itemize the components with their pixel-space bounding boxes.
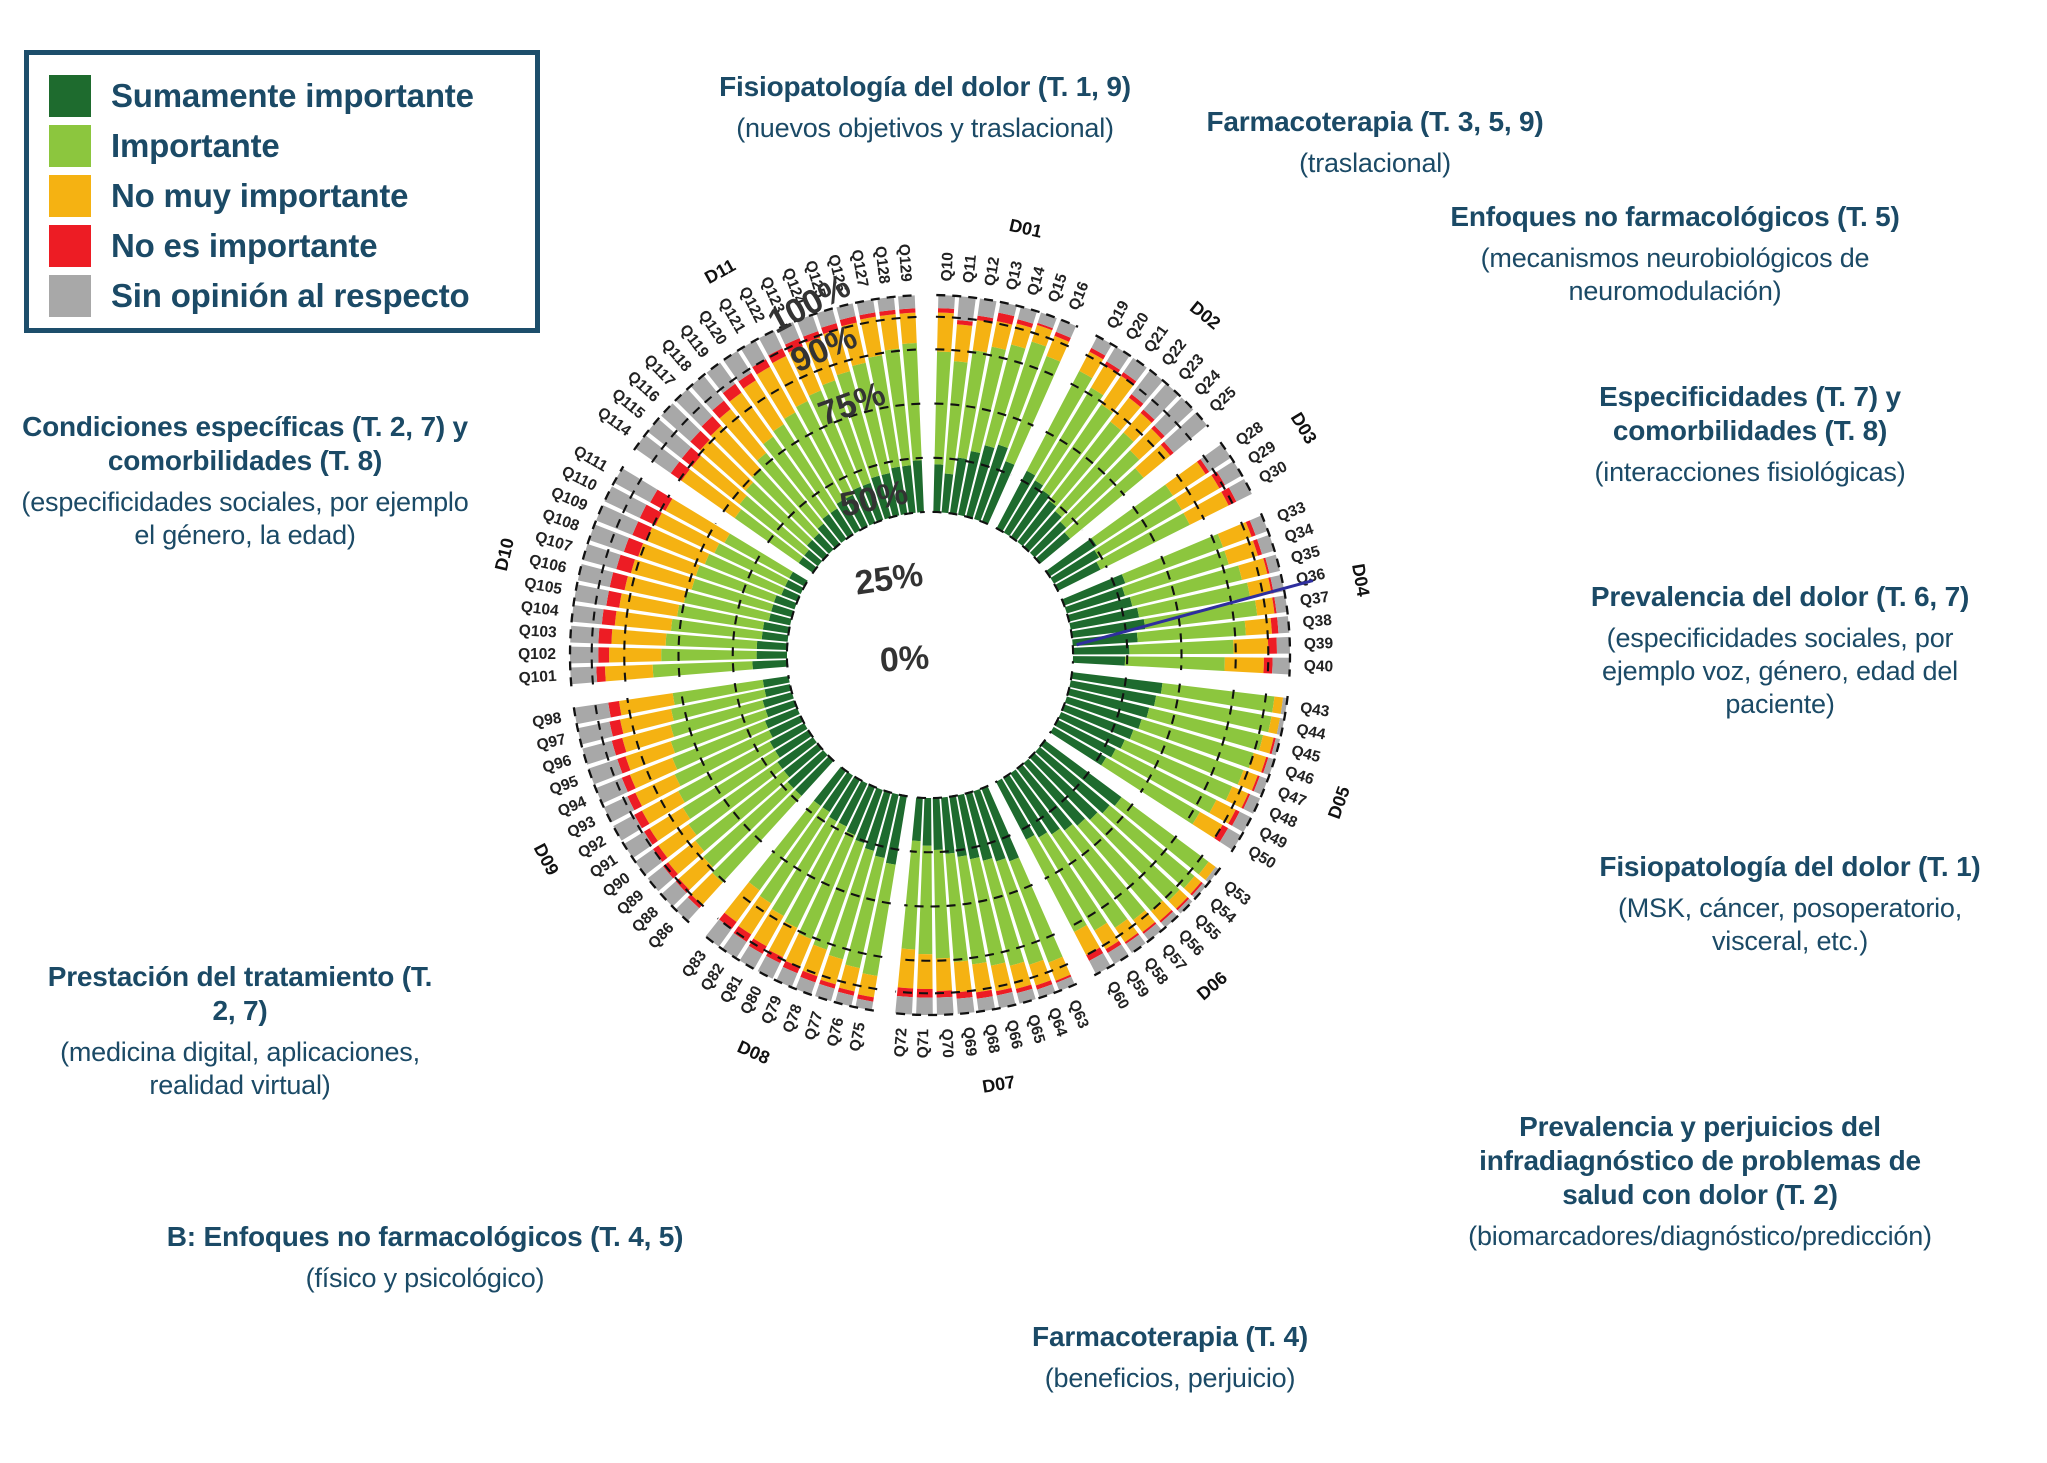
bar-segment xyxy=(954,324,972,362)
bar-segment xyxy=(606,591,621,608)
bar-segment xyxy=(752,660,787,669)
q-label: Q129 xyxy=(895,243,914,282)
q-label: Q68 xyxy=(981,1023,1002,1055)
bar-segment xyxy=(574,584,609,605)
bar-segment xyxy=(923,798,932,846)
bar-segment xyxy=(895,996,913,1015)
annotation-header: Fisiopatología del dolor (T. 1, 9) xyxy=(690,70,1160,104)
bar-segment xyxy=(902,841,921,950)
annotation-header: Fisiopatología del dolor (T. 1) xyxy=(1580,850,2000,884)
annotation-sub: (biomarcadores/diagnóstico/predicción) xyxy=(1440,1220,1960,1253)
q-label: Q128 xyxy=(871,245,893,285)
annotation-header: Especificidades (T. 7) y comorbilidades … xyxy=(1540,380,1960,448)
q-label: Q96 xyxy=(541,752,574,777)
bar-segment xyxy=(957,997,975,1014)
q-label: Q33 xyxy=(1275,499,1309,526)
q-label: Q105 xyxy=(523,575,564,598)
q-label: Q106 xyxy=(527,552,568,577)
domain-label: D09 xyxy=(530,840,563,879)
annotation-sub: (especificidades sociales, por ejemplo v… xyxy=(1560,622,2000,721)
bar-segment xyxy=(936,958,952,991)
q-label: Q71 xyxy=(915,1028,932,1058)
q-label: Q38 xyxy=(1302,612,1333,631)
bar-segment xyxy=(1277,637,1290,654)
bar-segment xyxy=(912,797,923,841)
q-label: Q95 xyxy=(547,773,581,799)
bar-segment xyxy=(605,665,653,682)
q-label: Q11 xyxy=(960,253,980,283)
domain-label: D03 xyxy=(1287,409,1321,448)
bar-segment xyxy=(762,632,789,642)
domain-label: D11 xyxy=(701,255,739,288)
bar-segment xyxy=(572,605,604,624)
q-label: Q39 xyxy=(1304,635,1334,653)
domain-label: D08 xyxy=(734,1037,772,1069)
domain-label: D05 xyxy=(1324,784,1354,822)
bar-segment xyxy=(1233,638,1268,654)
annotation-sub: (medicina digital, aplicaciones, realida… xyxy=(40,1036,440,1102)
domain-label: D10 xyxy=(491,536,518,573)
legend-label: No muy importante xyxy=(111,177,408,215)
q-label: Q66 xyxy=(1003,1018,1026,1051)
bar-segment xyxy=(1073,645,1130,654)
annotation-enfoques-no-farmacologicos-t5: Enfoques no farmacológicos (T. 5) (mecan… xyxy=(1420,200,1930,308)
legend-label: Sin opinión al respecto xyxy=(111,277,469,315)
annotation-sub: (nuevos objetivos y traslacional) xyxy=(690,112,1160,145)
annotation-prestacion-del-tratamiento: Prestación del tratamiento (T. 2, 7) (me… xyxy=(40,960,440,1102)
legend-swatch-no-es-importante xyxy=(49,225,91,267)
annotation-fisiopatologia-t1: Fisiopatología del dolor (T. 1) (MSK, cá… xyxy=(1580,850,2000,958)
bar-segment xyxy=(574,703,611,725)
annotation-header: Enfoques no farmacológicos (T. 5) xyxy=(1420,200,1930,234)
axis-tick-0: 0% xyxy=(879,638,931,680)
q-label: Q44 xyxy=(1295,721,1327,744)
bar-segment xyxy=(757,651,787,659)
legend-label: Sumamente importante xyxy=(111,77,474,115)
q-label: Q12 xyxy=(982,256,1004,288)
q-label: Q75 xyxy=(847,1021,869,1053)
q-label: Q45 xyxy=(1289,742,1322,766)
bar-segment xyxy=(938,295,955,309)
q-label: Q40 xyxy=(1304,658,1334,676)
bar-segment xyxy=(1277,616,1289,633)
bar-segment xyxy=(757,641,788,650)
annotation-enfoques-no-farmacologicos-t4-5: B: Enfoques no farmacológicos (T. 4, 5) … xyxy=(130,1220,720,1295)
annotation-sub: (MSK, cáncer, posoperatorio, visceral, e… xyxy=(1580,892,2000,958)
bar-segment xyxy=(918,846,932,955)
legend-label: No es importante xyxy=(111,227,377,265)
annotation-farmacoterapia-t4: Farmacoterapia (T. 4) (beneficios, perju… xyxy=(960,1320,1380,1395)
legend-swatch-importante xyxy=(49,125,91,167)
bar-segment xyxy=(1272,658,1290,675)
bar-segment xyxy=(933,798,943,850)
q-label: Q64 xyxy=(1045,1006,1071,1040)
annotation-sub: (mecanismos neurobiológicos de neuromodu… xyxy=(1420,242,1930,308)
bar-segment xyxy=(578,722,613,745)
bar-segment xyxy=(661,649,757,661)
q-label: Q98 xyxy=(531,710,563,732)
q-label: Q72 xyxy=(891,1027,910,1057)
bar-segment xyxy=(609,648,661,663)
bar-segment xyxy=(1224,657,1263,673)
q-label: Q10 xyxy=(938,252,956,282)
q-label: Q102 xyxy=(518,646,556,663)
q-label: Q76 xyxy=(824,1015,848,1048)
q-label: Q63 xyxy=(1065,997,1092,1031)
domain-label: D01 xyxy=(1007,215,1044,242)
bar-segment xyxy=(602,609,617,625)
circular-stacked-bar-chart: Q10Q11Q12Q13Q14Q15Q16Q19Q20Q21Q22Q23Q24Q… xyxy=(430,155,1430,1155)
bar-segment xyxy=(916,997,933,1015)
q-label: Q101 xyxy=(518,668,557,687)
bar-segment xyxy=(598,647,609,662)
domain-label: D02 xyxy=(1186,297,1224,333)
q-label: Q15 xyxy=(1045,271,1071,305)
bar-segment xyxy=(933,464,943,512)
annotation-prevalencia-del-dolor-t6-7: Prevalencia del dolor (T. 6, 7) (especif… xyxy=(1560,580,2000,721)
bar-segment xyxy=(582,741,616,765)
q-label: Q70 xyxy=(938,1028,956,1058)
bar-segment xyxy=(1125,657,1225,671)
q-label: Q127 xyxy=(848,248,872,288)
chart-svg: Q10Q11Q12Q13Q14Q15Q16Q19Q20Q21Q22Q23Q24Q… xyxy=(430,155,1430,1155)
legend-swatch-no-muy-importante xyxy=(49,175,91,217)
bar-segment xyxy=(570,647,598,664)
annotation-sub: (beneficios, perjuicio) xyxy=(960,1362,1380,1395)
chart-center-hole xyxy=(788,513,1072,797)
bar-segment xyxy=(598,628,612,644)
legend-swatch-sin-opinion xyxy=(49,275,91,317)
q-label: Q97 xyxy=(535,731,567,754)
domain-label: D06 xyxy=(1193,967,1231,1004)
q-label: Q69 xyxy=(960,1026,980,1057)
bar-segment xyxy=(877,297,895,312)
annotation-header: Farmacoterapia (T. 3, 5, 9) xyxy=(1180,105,1570,139)
q-label: Q107 xyxy=(533,529,574,556)
annotation-fisiopatologia-t1-9: Fisiopatología del dolor (T. 1, 9) (nuev… xyxy=(690,70,1160,145)
annotation-header: Prevalencia y perjuicios del infradiagnó… xyxy=(1440,1110,1960,1212)
q-label: Q78 xyxy=(780,1002,806,1036)
bar-segment xyxy=(991,963,1012,992)
annotation-header: Prestación del tratamiento (T. 2, 7) xyxy=(40,960,440,1028)
annotation-header: Condiciones específicas (T. 2, 7) y como… xyxy=(10,410,480,478)
bar-segment xyxy=(954,961,972,993)
bar-segment xyxy=(937,997,954,1015)
bar-segment xyxy=(1010,962,1031,989)
annotation-header: Farmacoterapia (T. 4) xyxy=(960,1320,1380,1354)
q-label: Q104 xyxy=(520,598,560,619)
bar-segment xyxy=(1073,656,1125,665)
q-label: Q103 xyxy=(518,622,557,641)
chart-page: Sumamente importante Importante No muy i… xyxy=(0,0,2047,1463)
legend-label: Importante xyxy=(111,127,280,165)
q-label: Q46 xyxy=(1283,763,1316,788)
annotation-sub: (especificidades sociales, por ejemplo e… xyxy=(10,486,480,552)
bar-segment xyxy=(898,949,915,989)
bar-segment xyxy=(578,564,613,587)
q-label: Q37 xyxy=(1299,589,1330,610)
bar-segment xyxy=(937,312,954,352)
legend-item: Sumamente importante xyxy=(49,71,517,121)
domain-label: D07 xyxy=(981,1072,1017,1097)
bar-segment xyxy=(653,661,753,677)
annotation-header: B: Enfoques no farmacológicos (T. 4, 5) xyxy=(130,1220,720,1254)
annotation-condiciones-especificas: Condiciones específicas (T. 2, 7) y como… xyxy=(10,410,480,552)
bar-segment xyxy=(570,626,599,644)
annotation-infradiagnostico: Prevalencia y perjuicios del infradiagnó… xyxy=(1440,1110,1960,1253)
q-label: Q34 xyxy=(1283,521,1316,546)
annotation-header: Prevalencia del dolor (T. 6, 7) xyxy=(1560,580,2000,614)
q-label: Q65 xyxy=(1024,1013,1048,1046)
bar-segment xyxy=(978,298,997,318)
bar-segment xyxy=(1011,323,1032,348)
annotation-sub: (físico y psicológico) xyxy=(130,1262,720,1295)
q-label: Q13 xyxy=(1003,259,1026,292)
bar-segment xyxy=(839,965,860,992)
bar-segment xyxy=(1238,558,1267,580)
bar-segment xyxy=(917,954,933,989)
bar-segment xyxy=(973,320,993,352)
q-label: Q35 xyxy=(1289,543,1322,567)
annotation-especificidades-comorbilidades: Especificidades (T. 7) y comorbilidades … xyxy=(1540,380,1960,489)
bar-segment xyxy=(611,629,666,646)
bar-segment xyxy=(898,295,915,309)
q-label: Q16 xyxy=(1066,279,1093,313)
q-label: Q14 xyxy=(1024,264,1049,297)
domain-label: D04 xyxy=(1348,562,1373,598)
q-label: Q43 xyxy=(1299,700,1331,721)
bar-segment xyxy=(938,308,954,313)
q-label: Q77 xyxy=(802,1009,827,1042)
annotation-sub: (interacciones fisiológicas) xyxy=(1540,456,1960,489)
bar-segment xyxy=(596,666,606,682)
legend-swatch-sumamente-importante xyxy=(49,75,91,117)
